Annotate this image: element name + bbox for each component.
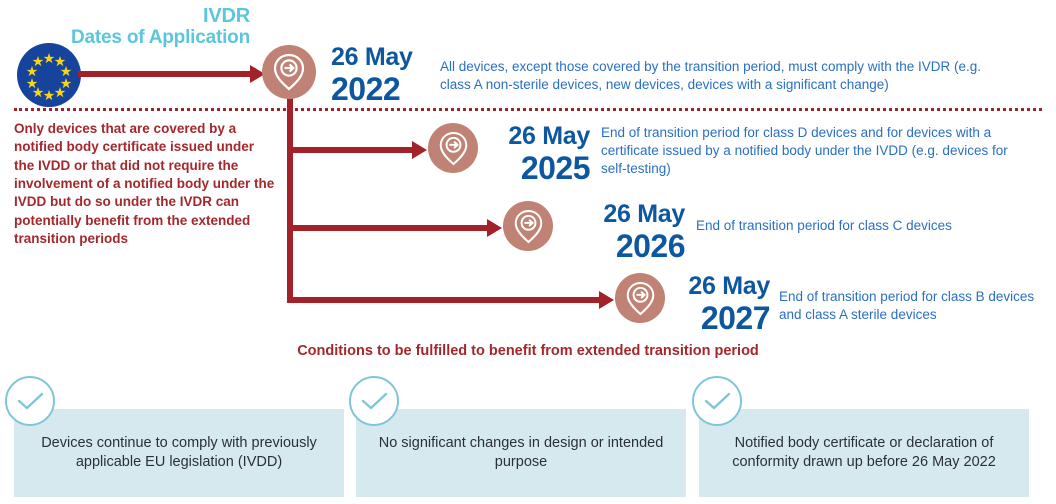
- page-title: IVDR Dates of Application: [0, 6, 250, 48]
- timeline-line-2027: [287, 297, 602, 303]
- condition-box-1: Devices continue to comply with previous…: [14, 409, 344, 497]
- milestone-date-2025: 26 May 2025: [470, 124, 590, 184]
- milestone-daymonth-2025: 26 May: [470, 124, 590, 149]
- check-circle-icon: [4, 375, 56, 427]
- timeline-arrow-2026: [487, 219, 502, 237]
- timeline-arrow-2025: [412, 141, 427, 159]
- timeline-line-2025: [287, 147, 415, 153]
- timeline-arrow-2027: [599, 291, 614, 309]
- dotted-separator: [14, 108, 1042, 111]
- timeline-line-2022: [78, 71, 253, 77]
- check-circle-icon: [348, 375, 400, 427]
- milestone-pin-2022: [262, 45, 316, 99]
- eu-flag-icon: [17, 43, 81, 107]
- timeline-trunk-vertical: [287, 96, 293, 303]
- condition-text-2: No significant changes in design or inte…: [370, 434, 672, 472]
- timeline-line-2026: [287, 225, 490, 231]
- page-title-line1: IVDR: [0, 6, 250, 28]
- conditions-title: Conditions to be fulfilled to benefit fr…: [0, 343, 1056, 359]
- milestone-year-2022: 2022: [331, 73, 413, 105]
- milestone-description-2022: All devices, except those covered by the…: [440, 58, 1000, 94]
- location-pin-arrow-icon: [625, 281, 656, 316]
- milestone-year-2025: 2025: [470, 152, 590, 184]
- milestone-description-2027: End of transition period for class B dev…: [779, 288, 1041, 324]
- condition-box-2: No significant changes in design or inte…: [356, 409, 686, 497]
- milestone-pin-2026: [503, 201, 553, 251]
- milestone-date-2022: 26 May 2022: [331, 45, 413, 105]
- condition-text-1: Devices continue to comply with previous…: [28, 434, 330, 472]
- condition-text-3: Notified body certificate or declaration…: [713, 434, 1015, 472]
- transition-eligibility-note: Only devices that are covered by a notif…: [14, 120, 276, 249]
- milestone-daymonth-2027: 26 May: [655, 274, 770, 299]
- milestone-description-2026: End of transition period for class C dev…: [696, 217, 1026, 235]
- check-circle-icon: [691, 375, 743, 427]
- milestone-year-2027: 2027: [655, 302, 770, 334]
- location-pin-arrow-icon: [438, 131, 469, 166]
- milestone-daymonth-2026: 26 May: [565, 202, 685, 227]
- location-pin-arrow-icon: [272, 53, 306, 91]
- milestone-year-2026: 2026: [565, 230, 685, 262]
- milestone-description-2025: End of transition period for class D dev…: [601, 124, 1033, 179]
- location-pin-arrow-icon: [513, 209, 544, 244]
- milestone-date-2027: 26 May 2027: [655, 274, 770, 334]
- milestone-daymonth-2022: 26 May: [331, 45, 413, 70]
- milestone-date-2026: 26 May 2026: [565, 202, 685, 262]
- condition-box-3: Notified body certificate or declaration…: [699, 409, 1029, 497]
